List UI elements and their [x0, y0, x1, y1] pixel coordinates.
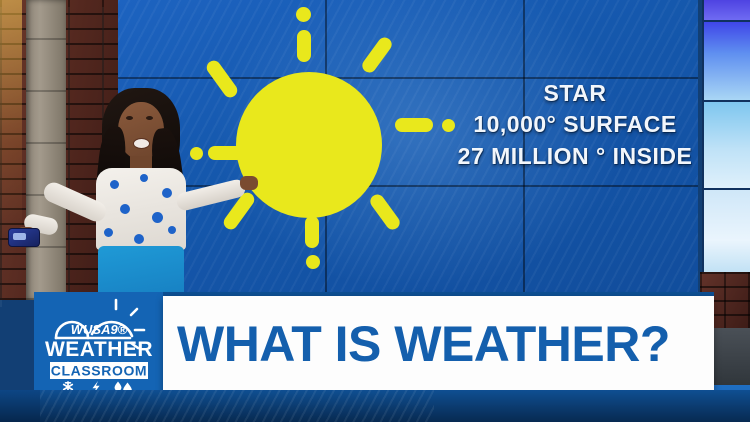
- polka-dot: [104, 228, 113, 237]
- polka-dot: [120, 204, 130, 214]
- polka-dot: [110, 180, 119, 189]
- presentation-clicker: [8, 228, 40, 247]
- page-title: WHAT IS WEATHER?: [177, 308, 708, 380]
- mouth: [133, 138, 150, 149]
- logo-line-weather: WEATHER: [45, 338, 153, 361]
- sun-ray: [395, 118, 433, 132]
- wall-fact-text: STAR 10,000° SURFACE 27 MILLION ° INSIDE: [430, 78, 720, 172]
- sun-ray: [305, 216, 319, 248]
- logo-artwork: WUSA9® WEATHER CLASSROOM: [34, 292, 164, 394]
- meteorologist: [18, 88, 208, 296]
- band-stripes: [34, 390, 434, 422]
- polka-dot: [168, 226, 176, 234]
- sun-disc: [236, 72, 382, 218]
- title-banner: WHAT IS WEATHER?: [163, 296, 714, 393]
- weather-classroom-logo: WUSA9® WEATHER CLASSROOM: [34, 292, 164, 394]
- right-hand: [240, 176, 258, 190]
- sun-ray: [306, 255, 320, 269]
- fact-line-1: STAR: [430, 78, 720, 108]
- broadcast-screenshot: STAR 10,000° SURFACE 27 MILLION ° INSIDE: [0, 0, 750, 422]
- polka-dot-top: [96, 168, 186, 250]
- fact-line-2: 10,000° SURFACE: [430, 108, 720, 140]
- sun-ray: [297, 30, 311, 62]
- polka-dot: [140, 174, 148, 182]
- polka-dot: [134, 234, 144, 244]
- bottom-band-left: [0, 390, 40, 422]
- display-panel: [702, 0, 750, 22]
- polka-dot: [162, 188, 172, 198]
- network-wordmark: WUSA9®: [71, 322, 128, 337]
- sun-ray: [208, 146, 244, 160]
- bottom-band: [0, 390, 750, 422]
- display-panel: [702, 188, 750, 276]
- logo-line-classroom: CLASSROOM: [51, 363, 147, 379]
- eye: [126, 116, 133, 120]
- fact-line-3: 27 MILLION ° INSIDE: [430, 140, 720, 172]
- eye: [146, 116, 153, 120]
- sun-ray: [296, 7, 311, 22]
- polka-dot: [152, 212, 163, 223]
